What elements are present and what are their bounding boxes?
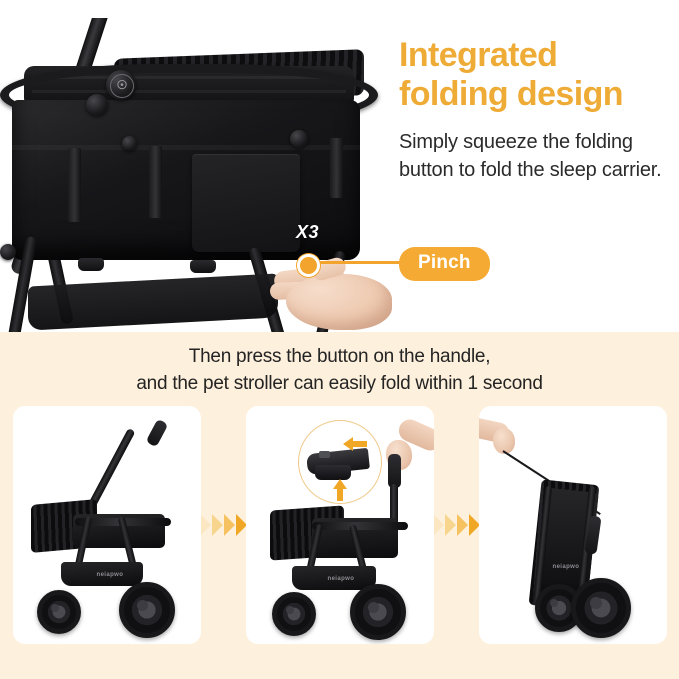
stroller-strap: [68, 148, 81, 222]
steps-panel-row: neiapwo: [0, 406, 679, 644]
hero-section: X3 ☉ Pinch Integrated fold: [0, 0, 679, 332]
handle-button-detail-inset: [298, 420, 382, 504]
chevron-right-icon: [445, 514, 456, 536]
mini-frame-top: [312, 522, 408, 530]
chevron-right-icon: [212, 514, 223, 536]
hero-title: Integrated folding design: [399, 36, 671, 114]
inset-release-button: [319, 451, 330, 458]
mini-wheel-hub: [51, 604, 59, 612]
hand-palm: [286, 274, 392, 330]
step-arrow-2-to-3: [434, 406, 479, 644]
stroller-foot: [190, 260, 216, 273]
mini-handle-grip: [388, 454, 401, 488]
infographic-page: X3 ☉ Pinch Integrated fold: [0, 0, 679, 679]
step-arrow-1-to-2: [201, 406, 246, 644]
mini-wheel: [272, 592, 316, 636]
stroller-hinge-joint: [290, 130, 308, 148]
folding-steps-section: Then press the button on the handle, and…: [0, 332, 679, 679]
callout-leader-line: [312, 261, 408, 264]
mini-brand-logo: neiapwo: [97, 572, 124, 578]
brand-emblem-icon: ☉: [110, 74, 134, 98]
mini-wheel-hub: [137, 600, 148, 611]
hero-copy-block: Integrated folding design Simply squeeze…: [399, 36, 671, 184]
arrow-left-tail: [353, 441, 367, 447]
callout-marker-dot-icon: [297, 254, 320, 277]
step-panel-2: neiapwo: [246, 406, 434, 644]
mini-wheel: [119, 582, 175, 638]
stroller-strap: [330, 138, 343, 198]
mini-wheel: [571, 578, 631, 638]
arrow-up-tail: [337, 489, 343, 501]
mini-wheel-hub: [550, 599, 558, 607]
arrow-left-icon: [343, 437, 353, 451]
arrow-up-icon: [333, 479, 347, 489]
steps-caption: Then press the button on the handle, and…: [0, 332, 679, 398]
mini-brand-logo: neiapwo: [328, 576, 355, 582]
mini-wheel: [350, 584, 406, 640]
hand-pinching-folding-button: [268, 252, 398, 332]
pinch-callout-badge: Pinch: [399, 247, 490, 281]
stroller-strap: [149, 146, 162, 218]
chevron-right-icon: [433, 514, 444, 536]
stroller-illustration-step-1: neiapwo: [13, 406, 201, 644]
mini-brand-logo: neiapwo: [553, 564, 580, 570]
stroller-foot: [78, 258, 104, 271]
stroller-illustration-step-3: neiapwo: [479, 406, 667, 644]
stroller-illustration-step-2: neiapwo: [246, 406, 434, 644]
step-panel-3: neiapwo: [479, 406, 667, 644]
product-model-badge: X3: [296, 222, 319, 243]
chevron-right-icon: [457, 514, 468, 536]
stroller-hinge-joint: [86, 94, 108, 116]
mini-wheel-hub: [286, 606, 294, 614]
mini-handle-grip: [145, 419, 168, 448]
hero-title-line-1: Integrated: [399, 36, 557, 74]
step-panel-1: neiapwo: [13, 406, 201, 644]
chevron-right-icon: [224, 514, 235, 536]
stroller-hinge-joint: [0, 244, 16, 260]
hero-title-line-2: folding design: [399, 75, 623, 113]
chevron-right-icon: [200, 514, 211, 536]
steps-caption-line-2: and the pet stroller can easily fold wit…: [136, 373, 542, 394]
mini-wheel-hub: [368, 602, 379, 613]
stroller-front-pocket: [192, 154, 300, 252]
mini-wheel-hub: [590, 597, 602, 609]
stroller-hinge-joint: [122, 136, 137, 151]
mini-wheel: [37, 590, 81, 634]
hero-subtitle: Simply squeeze the folding button to fol…: [399, 128, 671, 185]
inset-handle-lower: [315, 465, 351, 480]
steps-caption-line-1: Then press the button on the handle,: [189, 346, 491, 367]
